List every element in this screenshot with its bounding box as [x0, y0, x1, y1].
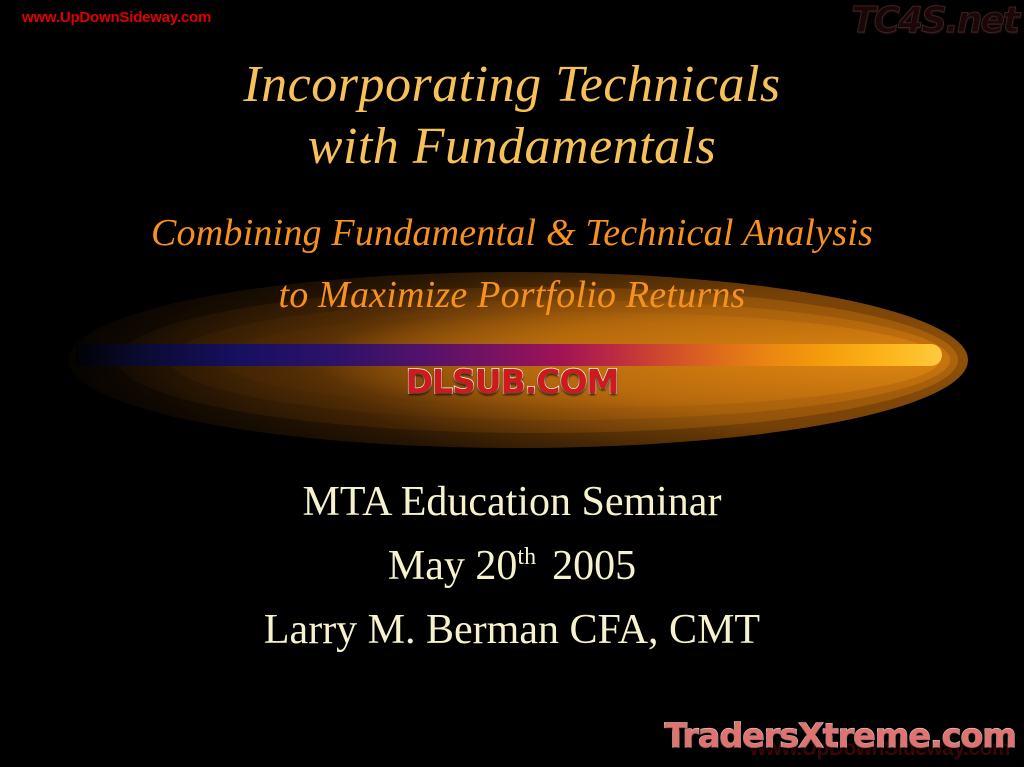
watermark-center: DLSUB.COM: [0, 362, 1024, 401]
presentation-slide: Incorporating Technicals with Fundamenta…: [0, 0, 1024, 767]
watermark-top-right: TC4S.net: [851, 0, 1018, 41]
slide-body: MTA Education Seminar May 20th2005 Larry…: [0, 470, 1024, 662]
slide-title: Incorporating Technicals with Fundamenta…: [0, 54, 1024, 178]
date-ordinal-superscript: th: [517, 544, 536, 570]
date-year: 2005: [552, 543, 636, 589]
body-line-seminar: MTA Education Seminar: [0, 470, 1024, 534]
date-prefix: May 20: [388, 543, 518, 589]
watermark-bottom-right: TradersXtreme.com: [664, 716, 1016, 755]
slide-subtitle: Combining Fundamental & Technical Analys…: [0, 202, 1024, 326]
watermark-top-left: www.UpDownSideway.com: [22, 9, 211, 26]
body-line-date: May 20th2005: [0, 534, 1024, 598]
body-line-presenter: Larry M. Berman CFA, CMT: [0, 598, 1024, 662]
